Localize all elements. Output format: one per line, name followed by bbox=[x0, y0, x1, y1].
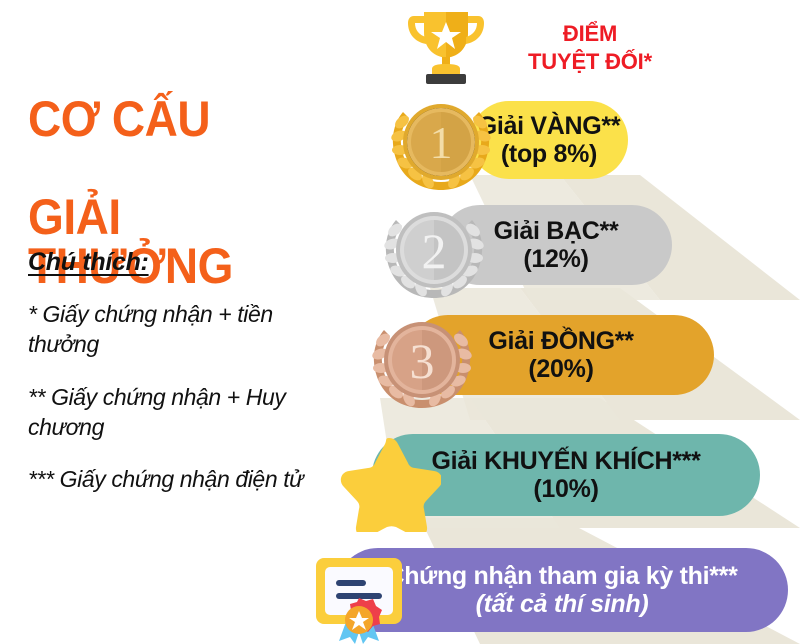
silver-medal-icon: 2 bbox=[378, 200, 490, 304]
award-label-silver: Giải BẠC** bbox=[494, 218, 619, 245]
medal-rank-2: 2 bbox=[422, 223, 447, 279]
absolute-score-header: ĐIỂM TUYỆT ĐỐI* bbox=[490, 20, 690, 75]
legend-item-2: ** Giấy chứng nhận + Huy chương bbox=[28, 382, 328, 443]
infographic-canvas: CƠ CẤU GIẢI THƯỞNG Chú thích: * Giấy chứ… bbox=[0, 0, 800, 644]
award-detail-bronze: (20%) bbox=[528, 355, 593, 383]
award-detail-participation: (tất cả thí sinh) bbox=[476, 590, 649, 618]
page-title-line1: CƠ CẤU bbox=[28, 95, 332, 144]
certificate-icon bbox=[306, 548, 412, 644]
absolute-score-line2: TUYỆT ĐỐI* bbox=[490, 48, 690, 76]
legend: Chú thích: * Giấy chứng nhận + tiền thưở… bbox=[28, 248, 328, 517]
award-label-gold: Giải VÀNG** bbox=[478, 113, 621, 140]
legend-item-1: * Giấy chứng nhận + tiền thưởng bbox=[28, 299, 328, 360]
award-label-participation: Chứng nhận tham gia kỳ thi*** bbox=[386, 563, 737, 590]
legend-item-3: *** Giấy chứng nhận điện tử bbox=[28, 464, 328, 494]
trophy-icon bbox=[404, 2, 488, 88]
award-label-bronze: Giải ĐỒNG** bbox=[488, 328, 633, 355]
bronze-medal-icon: 3 bbox=[366, 310, 478, 414]
gold-medal-icon: 1 bbox=[385, 92, 497, 196]
absolute-score-line1: ĐIỂM bbox=[490, 20, 690, 48]
medal-rank-1: 1 bbox=[430, 117, 453, 168]
award-detail-silver: (12%) bbox=[523, 245, 588, 273]
award-label-encourage: Giải KHUYẾN KHÍCH*** bbox=[431, 448, 700, 475]
legend-heading: Chú thích: bbox=[28, 248, 328, 277]
star-icon bbox=[337, 432, 441, 532]
award-detail-encourage: (10%) bbox=[533, 475, 598, 503]
medal-rank-3: 3 bbox=[410, 333, 435, 389]
award-detail-gold: (top 8%) bbox=[501, 140, 597, 168]
